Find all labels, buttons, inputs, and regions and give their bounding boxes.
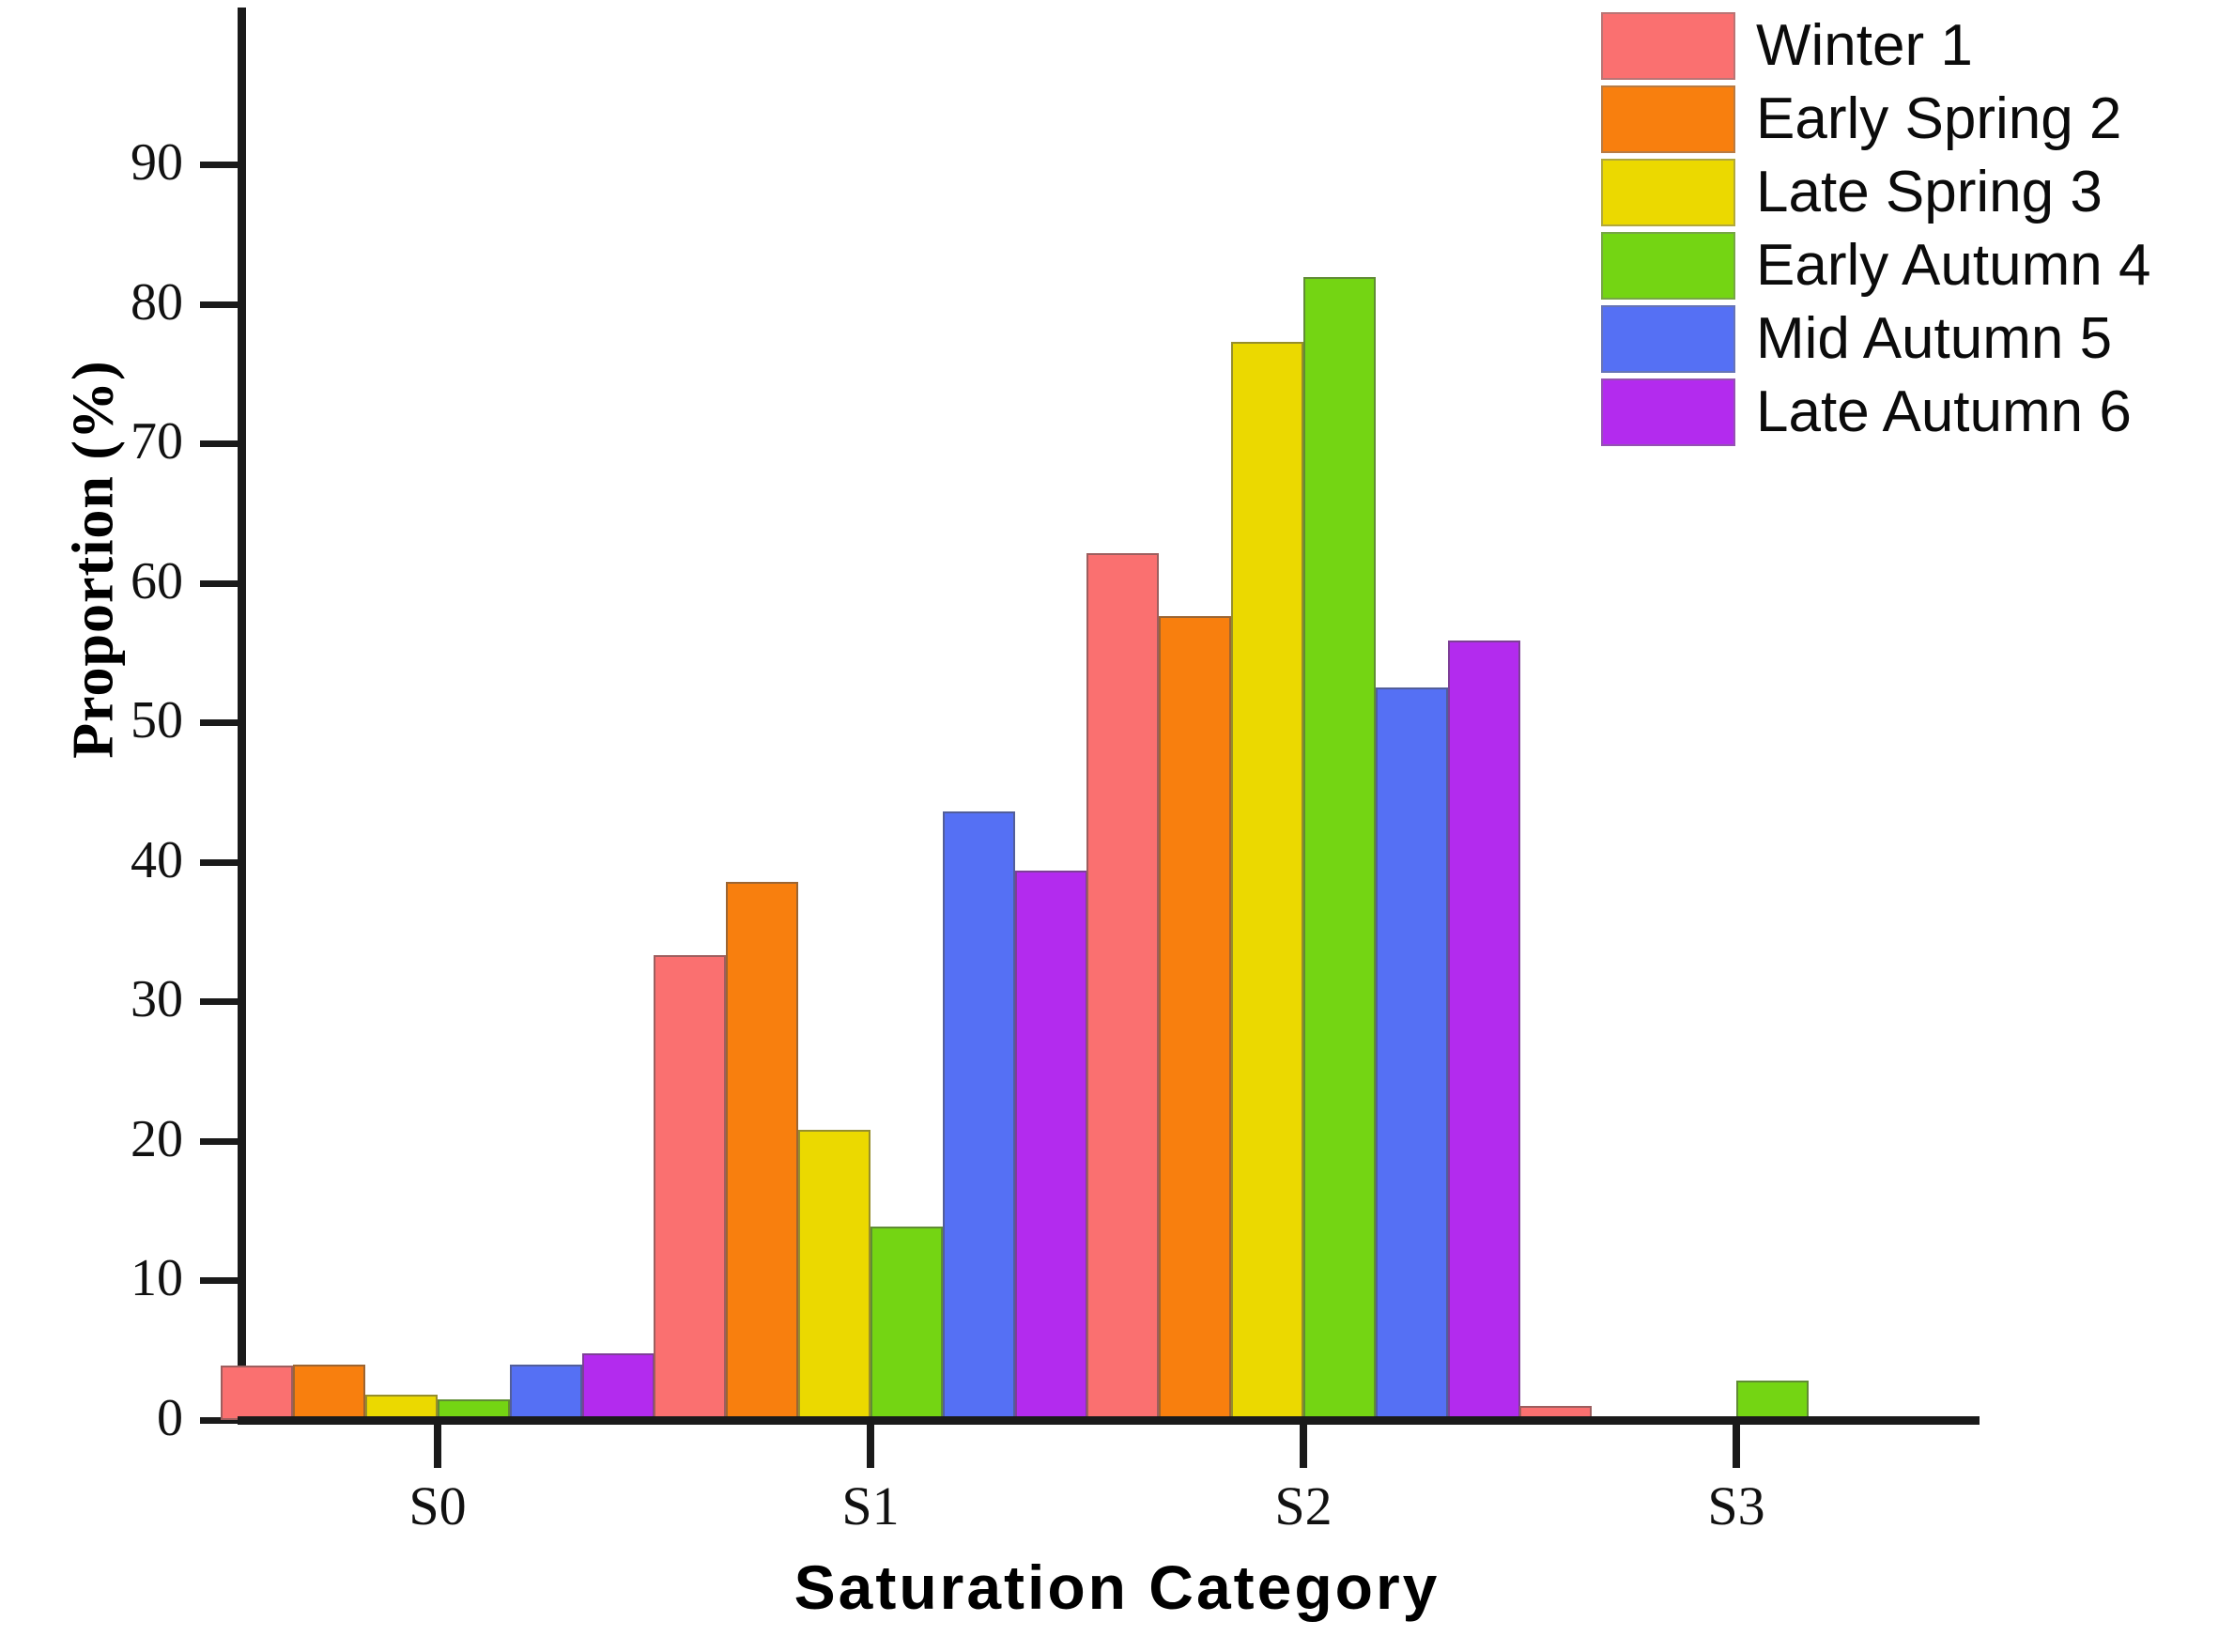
- legend-item-2[interactable]: Early Spring 2: [1601, 83, 2221, 156]
- bar-s0-series-2: [293, 1365, 365, 1420]
- y-tick-mark: [200, 719, 239, 726]
- x-tick-mark: [867, 1425, 874, 1468]
- bar-s1-series-3: [798, 1130, 870, 1420]
- y-tick-label: 90: [52, 136, 183, 189]
- x-tick-label-s1: S1: [758, 1479, 983, 1534]
- bar-s2-series-4: [1303, 277, 1376, 1420]
- y-tick-mark: [200, 580, 239, 587]
- x-axis-line: [238, 1416, 1980, 1425]
- y-tick-label: 80: [52, 276, 183, 329]
- x-tick-mark: [1300, 1425, 1307, 1468]
- y-tick-label: 20: [52, 1113, 183, 1166]
- y-tick-mark: [200, 1277, 239, 1284]
- bar-s1-series-6: [1015, 871, 1087, 1420]
- y-tick-label: 70: [52, 415, 183, 468]
- x-tick-label-s3: S3: [1624, 1479, 1849, 1534]
- x-axis-title: Saturation Category: [0, 1552, 2234, 1623]
- legend-item-5[interactable]: Mid Autumn 5: [1601, 302, 2221, 376]
- bar-chart-figure: Proportion (%) 0102030405060708090 S0S1S…: [0, 0, 2234, 1652]
- legend-item-6[interactable]: Late Autumn 6: [1601, 376, 2221, 449]
- legend-label: Late Spring 3: [1756, 163, 2103, 222]
- x-tick-mark: [1733, 1425, 1740, 1468]
- y-tick-mark: [200, 859, 239, 866]
- bar-s2-series-1: [1086, 553, 1159, 1420]
- y-tick-label: 30: [52, 973, 183, 1026]
- legend-label: Mid Autumn 5: [1756, 310, 2112, 368]
- bar-s1-series-1: [654, 955, 726, 1420]
- y-tick-label: 40: [52, 834, 183, 887]
- y-tick-mark: [200, 162, 239, 168]
- legend-item-1[interactable]: Winter 1: [1601, 9, 2221, 83]
- bar-s1-series-2: [726, 882, 798, 1420]
- legend-swatch-icon: [1601, 232, 1735, 300]
- bar-s2-series-6: [1448, 641, 1520, 1420]
- legend-label: Early Spring 2: [1756, 90, 2121, 148]
- legend-item-3[interactable]: Late Spring 3: [1601, 156, 2221, 229]
- bar-s1-series-4: [870, 1227, 943, 1420]
- legend-item-4[interactable]: Early Autumn 4: [1601, 229, 2221, 302]
- bar-s3-series-4: [1736, 1381, 1809, 1420]
- y-tick-mark: [200, 301, 239, 308]
- y-axis-line: [238, 8, 246, 1424]
- bar-s2-series-5: [1376, 687, 1448, 1420]
- x-tick-label-s2: S2: [1191, 1479, 1416, 1534]
- legend-swatch-icon: [1601, 12, 1735, 80]
- bar-s2-series-2: [1159, 616, 1231, 1420]
- legend-label: Winter 1: [1756, 17, 1973, 75]
- y-tick-mark: [200, 998, 239, 1005]
- bar-s2-series-3: [1231, 342, 1303, 1420]
- bar-s0-series-5: [510, 1365, 582, 1420]
- x-tick-mark: [434, 1425, 441, 1468]
- bar-s0-series-6: [582, 1353, 655, 1420]
- legend-swatch-icon: [1601, 85, 1735, 153]
- y-tick-label: 50: [52, 694, 183, 747]
- legend-swatch-icon: [1601, 378, 1735, 446]
- chart-legend: Winter 1Early Spring 2Late Spring 3Early…: [1601, 9, 2221, 449]
- legend-swatch-icon: [1601, 305, 1735, 373]
- y-tick-label: 60: [52, 555, 183, 608]
- bar-s1-series-5: [943, 811, 1015, 1420]
- legend-label: Early Autumn 4: [1756, 237, 2150, 295]
- legend-swatch-icon: [1601, 159, 1735, 226]
- bar-s0-series-1: [221, 1366, 293, 1420]
- legend-label: Late Autumn 6: [1756, 383, 2132, 441]
- y-tick-label: 10: [52, 1252, 183, 1305]
- y-tick-mark: [200, 1138, 239, 1145]
- x-tick-label-s0: S0: [325, 1479, 550, 1534]
- y-tick-label: 0: [52, 1392, 183, 1444]
- y-tick-mark: [200, 440, 239, 447]
